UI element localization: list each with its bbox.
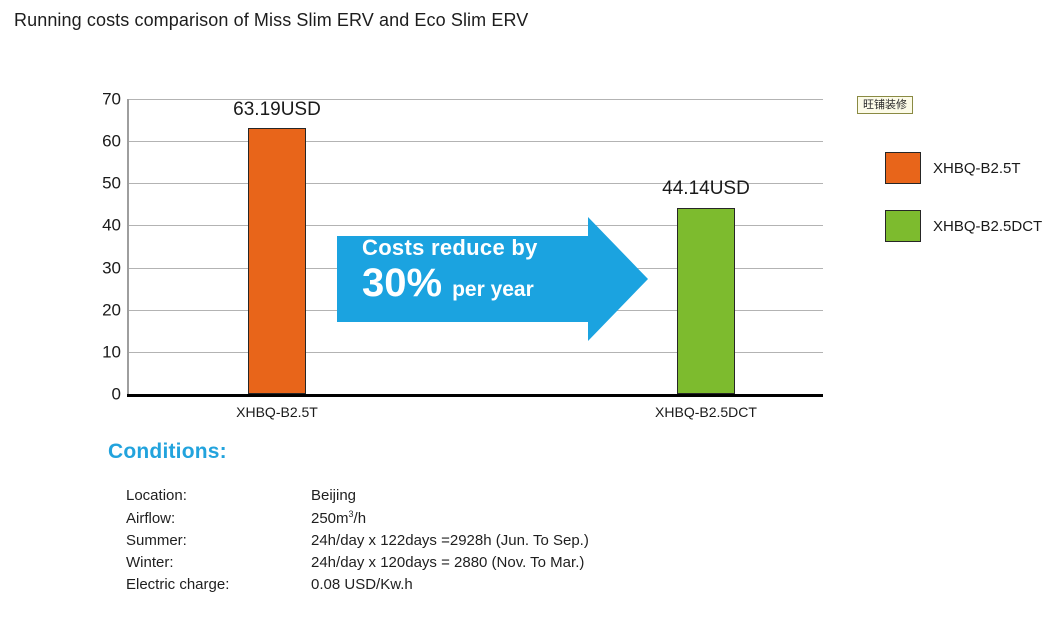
conditions-row-electric-charge: Electric charge: 0.08 USD/Kw.h bbox=[126, 574, 589, 596]
conditions-key-summer: Summer: bbox=[126, 530, 311, 552]
conditions-row-location: Location: Beijing bbox=[126, 485, 589, 507]
conditions-value-electric-charge: 0.08 USD/Kw.h bbox=[311, 574, 589, 596]
conditions-value-summer: 24h/day x 122days =2928h (Jun. To Sep.) bbox=[311, 530, 589, 552]
conditions-key-electric-charge: Electric charge: bbox=[126, 574, 311, 596]
conditions-value-airflow: 250m3/h bbox=[311, 507, 589, 530]
x-axis-line bbox=[127, 394, 823, 397]
y-tick-60: 60 bbox=[102, 133, 121, 150]
y-tick-70: 70 bbox=[102, 91, 121, 108]
conditions-key-winter: Winter: bbox=[126, 552, 311, 574]
y-tick-40: 40 bbox=[102, 217, 121, 234]
legend-label-xhbq-b25dct: XHBQ-B2.5DCT bbox=[933, 218, 1042, 235]
watermark-badge: 旺铺装修 bbox=[857, 96, 913, 114]
conditions-row-summer: Summer: 24h/day x 122days =2928h (Jun. T… bbox=[126, 530, 589, 552]
legend-item-xhbq-b25dct[interactable]: XHBQ-B2.5DCT bbox=[885, 210, 1042, 242]
bar-xhbq-b25t[interactable] bbox=[248, 128, 306, 394]
y-tick-0: 0 bbox=[112, 386, 121, 403]
y-axis-tick-labels: 70 60 50 40 30 20 10 0 bbox=[85, 99, 121, 394]
y-axis-line bbox=[127, 99, 129, 394]
x-category-label-xhbq-b25dct: XHBQ-B2.5DCT bbox=[655, 404, 757, 420]
y-tick-50: 50 bbox=[102, 175, 121, 192]
conditions-row-airflow: Airflow: 250m3/h bbox=[126, 507, 589, 530]
conditions-table: Location: Beijing Airflow: 250m3/h Summe… bbox=[126, 485, 589, 596]
airflow-tail: /h bbox=[354, 510, 367, 527]
page-title: Running costs comparison of Miss Slim ER… bbox=[14, 10, 528, 31]
legend-item-xhbq-b25t[interactable]: XHBQ-B2.5T bbox=[885, 152, 1042, 184]
legend-label-xhbq-b25t: XHBQ-B2.5T bbox=[933, 160, 1021, 177]
bar-value-label-xhbq-b25dct: 44.14USD bbox=[662, 178, 750, 200]
bar-value-label-xhbq-b25t: 63.19USD bbox=[233, 99, 321, 121]
conditions-key-airflow: Airflow: bbox=[126, 507, 311, 530]
y-tick-20: 20 bbox=[102, 301, 121, 318]
x-category-label-xhbq-b25t: XHBQ-B2.5T bbox=[236, 404, 318, 420]
y-tick-30: 30 bbox=[102, 259, 121, 276]
slide-canvas: Running costs comparison of Miss Slim ER… bbox=[0, 0, 1050, 624]
conditions-value-winter: 24h/day x 120days = 2880 (Nov. To Mar.) bbox=[311, 552, 589, 574]
conditions-key-location: Location: bbox=[126, 485, 311, 507]
bar-xhbq-b25dct[interactable] bbox=[677, 208, 735, 394]
conditions-row-winter: Winter: 24h/day x 120days = 2880 (Nov. T… bbox=[126, 552, 589, 574]
gridline-60 bbox=[129, 141, 823, 142]
conditions-heading: Conditions: bbox=[108, 440, 227, 464]
chart-legend: XHBQ-B2.5T XHBQ-B2.5DCT bbox=[885, 152, 1042, 268]
legend-swatch-green bbox=[885, 210, 921, 242]
airflow-base: 250m bbox=[311, 510, 349, 527]
conditions-value-location: Beijing bbox=[311, 485, 589, 507]
y-tick-10: 10 bbox=[102, 343, 121, 360]
bar-chart-plot-area bbox=[129, 99, 823, 394]
legend-swatch-orange bbox=[885, 152, 921, 184]
